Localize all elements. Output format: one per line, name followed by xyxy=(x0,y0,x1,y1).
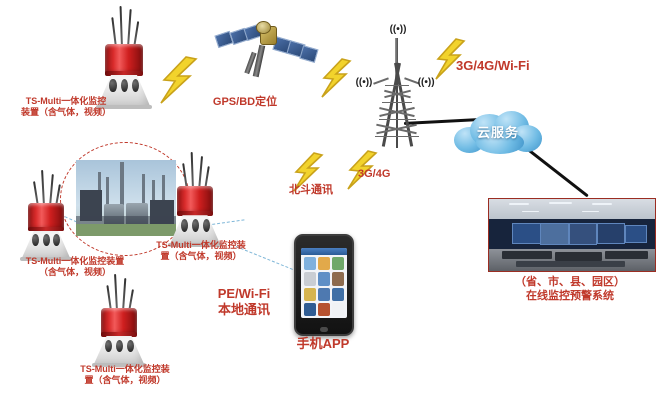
device-sensor-port xyxy=(116,340,123,352)
video-wall-panel xyxy=(540,223,569,245)
device-mid-left[interactable] xyxy=(20,168,72,260)
app-icon[interactable] xyxy=(318,303,330,316)
phone-app-label: 手机APP xyxy=(282,336,364,352)
device-antennas xyxy=(20,168,72,207)
app-icon[interactable] xyxy=(332,257,344,270)
device-sensor-port xyxy=(105,340,112,352)
video-wall-panel xyxy=(597,223,626,244)
link-3g4g-wifi-label: 3G/4G/Wi-Fi xyxy=(456,58,566,74)
device-mid-right-label: TS-Multi一体化监控装 置（含气体，视频） xyxy=(133,240,269,263)
app-icon[interactable] xyxy=(318,272,330,285)
device-antennas xyxy=(92,272,146,311)
device-sensor-port xyxy=(203,219,210,231)
diagram-canvas: TS-Multi一体化监控 装置（含气体，视频） TS-Multi一体化监控装置… xyxy=(0,0,668,406)
app-icon[interactable] xyxy=(304,272,316,285)
cell-tower: ((•)) ((•)) ((•)) xyxy=(360,26,434,148)
phone-status-bar xyxy=(301,248,347,255)
handheld-app-device[interactable] xyxy=(294,234,354,336)
device-mid-right[interactable] xyxy=(168,150,222,246)
app-icon[interactable] xyxy=(304,257,316,270)
link-gps-label: GPS/BD定位 xyxy=(182,96,308,110)
signal-wave-icon: ((•)) xyxy=(356,77,373,88)
bolt-gps-icon xyxy=(156,56,200,104)
device-sensor-port xyxy=(181,219,188,231)
phone-app-grid[interactable] xyxy=(304,257,344,316)
device-antennas xyxy=(96,4,152,48)
phone-home-button[interactable] xyxy=(320,327,329,332)
signal-wave-icon: ((•)) xyxy=(390,24,407,35)
device-bottom-left-label: TS-Multi一体化监控装 置（含气体，视频） xyxy=(55,364,195,387)
link-pe-wifi-label: PE/Wi-Fi 本地通讯 xyxy=(188,286,300,319)
app-icon[interactable] xyxy=(304,288,316,301)
device-sensor-port xyxy=(43,234,50,246)
cloud-service-label: 云服务 xyxy=(452,106,544,156)
control-room-label: （省、市、县、园区） 在线监控预警系统 xyxy=(472,276,668,304)
link-3g4g-label: 3G/4G xyxy=(358,168,412,182)
satellite xyxy=(214,8,318,92)
phone-screen[interactable] xyxy=(301,248,347,319)
cloud-service[interactable]: 云服务 xyxy=(452,106,544,156)
control-room-photo xyxy=(488,198,656,272)
device-sensor-port xyxy=(121,79,128,93)
device-sensor-port xyxy=(109,79,116,93)
video-wall-panel xyxy=(569,223,598,245)
video-wall-panel xyxy=(512,223,541,244)
bolt-satellite-downlink-icon xyxy=(318,58,352,98)
app-icon[interactable] xyxy=(304,303,316,316)
link-beidou-label: 北斗通讯 xyxy=(274,184,348,198)
app-icon[interactable] xyxy=(332,288,344,301)
device-bottom-left[interactable] xyxy=(92,272,146,366)
app-icon[interactable] xyxy=(318,288,330,301)
video-wall-panel xyxy=(625,225,647,244)
device-sensor-port xyxy=(192,219,199,231)
device-top-left[interactable] xyxy=(96,4,152,108)
app-icon[interactable] xyxy=(318,257,330,270)
device-sensor-port xyxy=(127,340,134,352)
app-icon[interactable] xyxy=(332,272,344,285)
app-icon[interactable] xyxy=(332,303,344,316)
device-antennas xyxy=(168,150,222,190)
device-top-left-label: TS-Multi一体化监控 装置（含气体，视频） xyxy=(2,96,130,119)
refinery-plant-photo xyxy=(76,160,176,236)
